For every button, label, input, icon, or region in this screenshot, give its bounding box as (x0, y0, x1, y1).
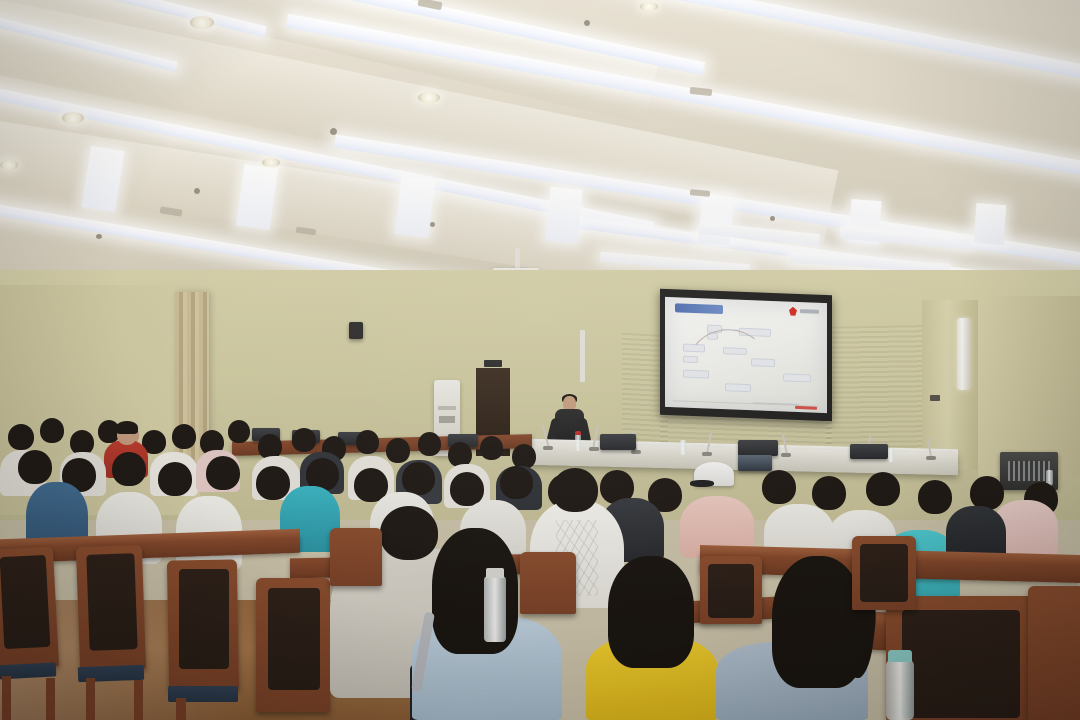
microphone-base-1 (543, 446, 553, 450)
chair-back-panel (268, 588, 320, 690)
audience-head (380, 506, 438, 560)
lecture-hall-photo: Lecture hall presentation Large audience… (0, 0, 1080, 720)
microphone-base-5 (781, 453, 791, 457)
slide-node-9 (783, 373, 811, 382)
wall-fixture-small (930, 395, 940, 401)
audience-head (112, 452, 146, 486)
audience-head (812, 476, 846, 510)
microphone-base-4 (702, 452, 712, 456)
microphone-base-2 (589, 447, 599, 451)
chair-leg (176, 698, 186, 720)
podium-monitor-2[interactable] (738, 440, 778, 456)
audience-head (172, 424, 196, 449)
chair-back-panel (0, 555, 50, 649)
downlight-2 (62, 112, 84, 124)
audience-head (480, 436, 503, 460)
microphone-base-3 (631, 450, 641, 454)
audience-head (386, 438, 410, 463)
audience-head (40, 418, 64, 443)
sprinkler-head-2 (194, 188, 200, 194)
corner-speaker (349, 322, 363, 339)
chair-leg (2, 676, 11, 720)
chair-back-panel (902, 610, 1020, 718)
laptop-right-aisle[interactable] (738, 455, 772, 471)
chair-back-panel (708, 564, 754, 618)
wall-pillar-far-right (978, 296, 1080, 476)
audience-head (18, 450, 52, 484)
audience-head (206, 456, 240, 490)
audience-white-cap-brim (690, 480, 714, 487)
microphone-base-7 (926, 456, 936, 460)
light-block-4 (545, 186, 582, 243)
wall-light-fixture (957, 318, 970, 390)
audience-head (356, 430, 379, 454)
chair-back-panel (86, 553, 137, 651)
audience-head (866, 472, 900, 506)
light-block-7 (974, 203, 1007, 245)
water-bottle-foreground-1 (484, 576, 506, 642)
downlight-6 (640, 2, 658, 11)
light-block-3 (395, 176, 436, 238)
logo-mark-icon (789, 307, 797, 316)
projector-mount-pole (515, 248, 520, 270)
podium-monitor-1[interactable] (600, 434, 636, 450)
water-bottle-foreground-2 (886, 660, 914, 720)
slide-footer-accent (795, 406, 817, 410)
chair-back-panel (179, 569, 229, 669)
water-bottle-podium-3 (888, 448, 894, 462)
audience-head (228, 420, 250, 443)
bottle-cap-1 (575, 431, 581, 435)
chair-leg (86, 678, 95, 720)
sprinkler-head-1 (330, 128, 337, 135)
exit-sign (484, 360, 502, 367)
audience-head (762, 470, 796, 504)
water-bottle-podium-1 (575, 434, 581, 451)
audience-head (402, 462, 435, 495)
chair-mid-center[interactable] (520, 552, 576, 614)
audience-head (158, 462, 192, 496)
logo-wordmark (800, 309, 819, 314)
chair-leg (134, 680, 143, 720)
downlight-3 (0, 160, 18, 170)
bottle-cap-foreground-1 (486, 568, 504, 578)
audience-head (256, 466, 290, 500)
ac-display-icon (439, 416, 455, 423)
downlight-1 (190, 16, 214, 29)
wood-panel-right (826, 325, 922, 455)
ac-vent-icon (438, 406, 456, 410)
audience-head (500, 466, 533, 499)
chair-mid-left[interactable] (330, 528, 382, 586)
sprinkler-head-4 (96, 234, 102, 239)
audience-head (8, 424, 34, 450)
audience-hair (116, 421, 138, 434)
audience-head (970, 476, 1004, 510)
slide-title-badge (675, 303, 723, 314)
chair-back-panel (860, 544, 908, 602)
audience-head (292, 428, 316, 452)
chair-foreground-right-2[interactable] (1028, 586, 1080, 720)
downlight-5 (262, 158, 280, 167)
audience-head (918, 480, 952, 514)
bottle-cap-foreground-2 (888, 650, 912, 662)
sprinkler-head-5 (430, 222, 435, 227)
podium-monitor-3[interactable] (850, 444, 888, 459)
projection-screen[interactable] (660, 289, 832, 422)
sprinkler-head-3 (584, 20, 590, 26)
screen-surface (665, 297, 827, 413)
speaker-grill-icon (1008, 461, 1050, 481)
slide-logo (789, 307, 819, 317)
audience-head (418, 432, 441, 456)
water-bottle-podium-2 (680, 440, 686, 455)
chair-leg (46, 678, 55, 720)
audience-head (552, 468, 598, 512)
audience-hair-long (608, 556, 694, 668)
light-block-5 (698, 195, 734, 246)
sprinkler-head-6 (770, 216, 775, 221)
whiteboard-edge (580, 330, 585, 382)
downlight-4 (418, 92, 440, 103)
